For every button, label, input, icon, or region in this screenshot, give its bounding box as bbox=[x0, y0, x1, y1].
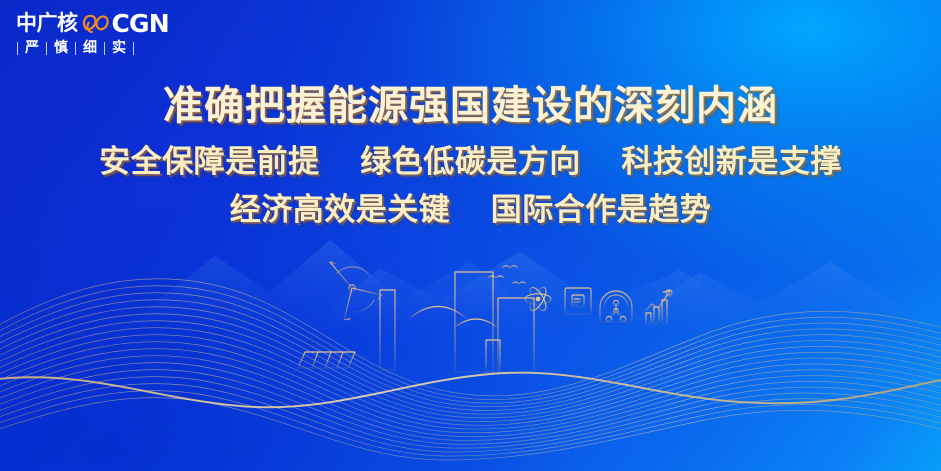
subtitle-line-2: 经济高效是关键 国际合作是趋势 bbox=[0, 186, 941, 234]
subtitle-phrase-1: 安全保障是前提 bbox=[99, 144, 320, 180]
subtitle-line-1: 安全保障是前提 绿色低碳是方向 科技创新是支撑 bbox=[0, 138, 941, 186]
background-artwork bbox=[0, 0, 941, 471]
cgn-logo[interactable]: 中广核 CGN 严 慎 细 实 bbox=[16, 10, 166, 60]
subtitle-phrase-5: 国际合作是趋势 bbox=[491, 192, 712, 228]
subtitle-phrase-3: 科技创新是支撑 bbox=[621, 144, 842, 180]
logo-motto: 严 慎 细 实 bbox=[16, 41, 166, 55]
subtitle-group: 安全保障是前提 绿色低碳是方向 科技创新是支撑 经济高效是关键 国际合作是趋势 bbox=[0, 138, 941, 234]
logo-chinese-name: 中广核 bbox=[16, 13, 78, 34]
motto-char-3: 细 bbox=[76, 41, 104, 55]
cgn-swirl-icon bbox=[81, 12, 110, 35]
motto-divider bbox=[133, 42, 134, 55]
subtitle-phrase-4: 经济高效是关键 bbox=[230, 192, 451, 228]
main-title: 准确把握能源强国建设的深刻内涵 bbox=[0, 84, 941, 129]
motto-char-1: 严 bbox=[18, 41, 46, 55]
headline-block: 准确把握能源强国建设的深刻内涵 安全保障是前提 绿色低碳是方向 科技创新是支撑 … bbox=[0, 84, 941, 234]
logo-english-name: CGN bbox=[112, 11, 169, 36]
motto-char-2: 慎 bbox=[47, 41, 75, 55]
subtitle-phrase-2: 绿色低碳是方向 bbox=[360, 144, 581, 180]
banner-poster: 中广核 CGN 严 慎 细 实 准确把握能源强国建设的深刻内涵 安全保障是前提 bbox=[0, 0, 941, 471]
motto-char-4: 实 bbox=[105, 41, 133, 55]
logo-primary-row: 中广核 CGN bbox=[16, 10, 166, 37]
